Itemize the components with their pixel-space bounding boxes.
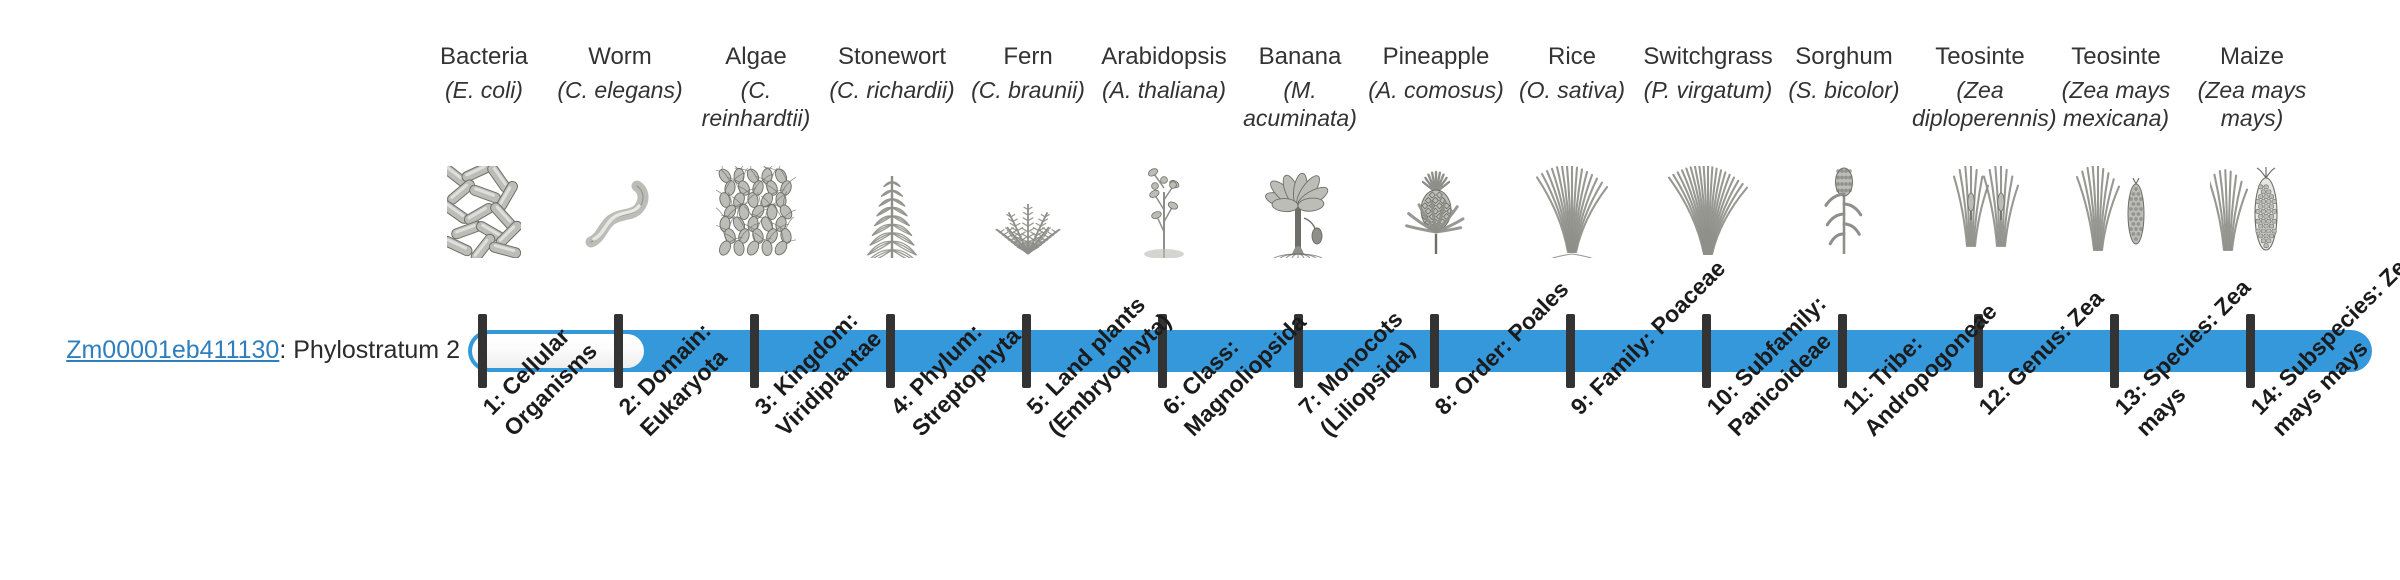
species-scientific-name: (E. coli) <box>416 76 552 104</box>
teosinte-diplo-icon <box>1912 168 2048 258</box>
rice-icon <box>1504 168 1640 258</box>
species-scientific-name: (O. sativa) <box>1504 76 1640 104</box>
algae-icon <box>688 168 824 258</box>
species-common-name: Pineapple <box>1368 42 1504 72</box>
species-scientific-name: (C. richardii) <box>824 76 960 104</box>
species-scientific-name: (Zea mays mays) <box>2184 76 2320 132</box>
species-scientific-name: (S. bicolor) <box>1776 76 1912 104</box>
species-common-name: Banana <box>1232 42 1368 72</box>
species-common-name: Arabidopsis <box>1096 42 1232 72</box>
species-common-name: Rice <box>1504 42 1640 72</box>
species-column: Bacteria (E. coli) <box>416 0 552 320</box>
species-scientific-name: (Zea mays mexicana) <box>2048 76 2184 132</box>
arabidopsis-icon <box>1096 168 1232 258</box>
species-common-name: Teosinte <box>2048 42 2184 72</box>
species-scientific-name: (C. braunii) <box>960 76 1096 104</box>
gene-label-separator: : <box>279 336 293 364</box>
species-common-name: Teosinte <box>1912 42 2048 72</box>
species-scientific-name: (M. acuminata) <box>1232 76 1368 132</box>
phylostratum-tick <box>2110 314 2119 388</box>
species-common-name: Switchgrass <box>1640 42 1776 72</box>
species-scientific-name: (C. elegans) <box>552 76 688 104</box>
switchgrass-icon <box>1640 168 1776 258</box>
fern-icon <box>960 168 1096 258</box>
sorghum-icon <box>1776 168 1912 258</box>
phylostratum-tick <box>1566 314 1575 388</box>
gene-phylostratum-label: Zm00001eb411130: Phylostratum 2 <box>40 336 460 365</box>
species-common-name: Worm <box>552 42 688 72</box>
species-scientific-name: (Zea diploperennis) <box>1912 76 2048 132</box>
species-common-name: Fern <box>960 42 1096 72</box>
worm-icon <box>552 168 688 258</box>
species-common-name: Sorghum <box>1776 42 1912 72</box>
maize-icon <box>2184 168 2320 258</box>
phylostratum-tick <box>478 314 487 388</box>
gene-accession-link[interactable]: Zm00001eb411130 <box>66 336 279 364</box>
bacteria-icon <box>416 168 552 258</box>
banana-icon <box>1232 168 1368 258</box>
species-common-name: Maize <box>2184 42 2320 72</box>
species-scientific-name: (P. virgatum) <box>1640 76 1776 104</box>
stonewort-icon <box>824 168 960 258</box>
teosinte-mex-icon <box>2048 168 2184 258</box>
pineapple-icon <box>1368 168 1504 258</box>
phylostratum-timeline: Zm00001eb411130: Phylostratum 2 Bacteria… <box>0 0 2400 580</box>
species-scientific-name: (A. thaliana) <box>1096 76 1232 104</box>
species-common-name: Stonewort <box>824 42 960 72</box>
gene-phylostratum-value: Phylostratum 2 <box>293 336 460 364</box>
species-scientific-name: (A. comosus) <box>1368 76 1504 104</box>
phylostratum-tick <box>1702 314 1711 388</box>
species-common-name: Algae <box>688 42 824 72</box>
species-common-name: Bacteria <box>416 42 552 72</box>
species-scientific-name: (C. reinhardtii) <box>688 76 824 132</box>
